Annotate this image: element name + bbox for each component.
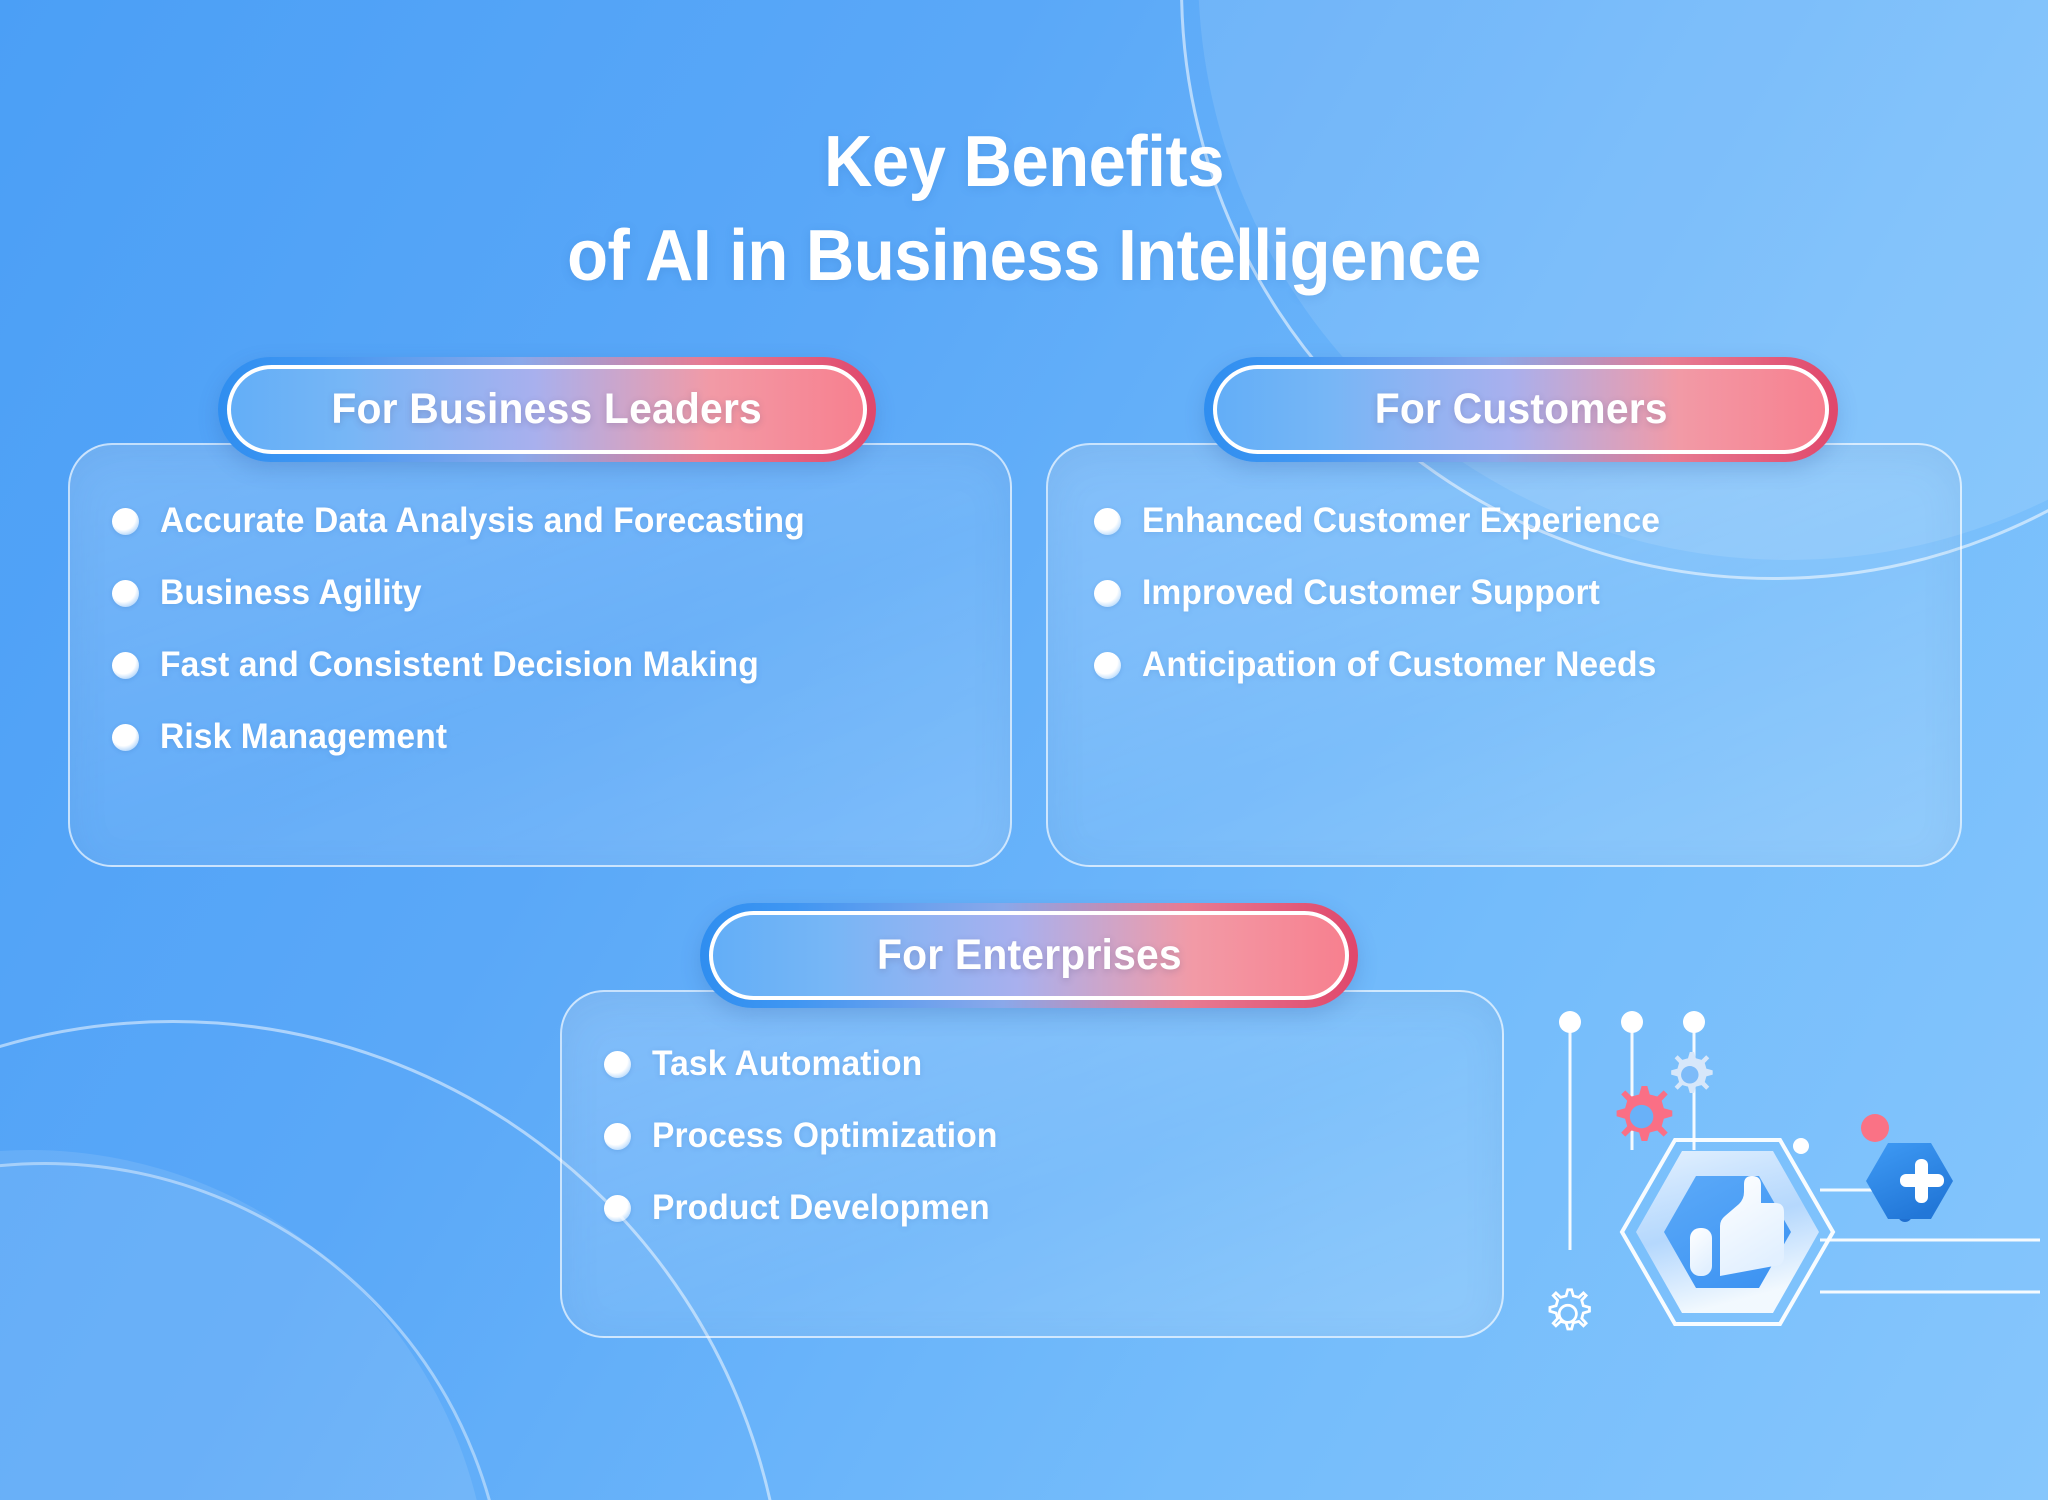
bullet-dot-icon [112, 580, 139, 607]
list-item: Process Optimization [562, 1116, 1502, 1156]
badge-for-enterprises: For Enterprises [700, 903, 1358, 1008]
list-item: Anticipation of Customer Needs [1048, 645, 1960, 685]
list-item: Product Developmen [562, 1188, 1502, 1228]
list-item-label: Accurate Data Analysis and Forecasting [160, 501, 805, 541]
card-business-leaders: Accurate Data Analysis and Forecasting B… [68, 443, 1012, 867]
infographic-canvas: Key Benefits of AI in Business Intellige… [0, 0, 2048, 1500]
thumbs-up-hexagon-icon [1622, 1140, 1833, 1324]
bullet-dot-icon [112, 508, 139, 535]
circle-bottom-left-fill [0, 1150, 490, 1500]
list-item-label: Product Developmen [652, 1188, 990, 1228]
dot-pink-icon [1861, 1114, 1889, 1142]
list-item-label: Anticipation of Customer Needs [1142, 645, 1656, 685]
bullet-dot-icon [1094, 508, 1121, 535]
gear-white-icon [1671, 1052, 1712, 1093]
page-title: Key Benefits of AI in Business Intellige… [72, 126, 1977, 292]
plus-hexagon-icon [1866, 1143, 1953, 1219]
bullet-dot-icon [1094, 652, 1121, 679]
bullet-dot-icon [1094, 580, 1121, 607]
list-item: Risk Management [70, 717, 1010, 757]
badge-for-business-leaders: For Business Leaders [218, 357, 876, 462]
gear-outline-icon [1550, 1290, 1590, 1329]
list-item-label: Risk Management [160, 717, 447, 757]
decorative-icon-cluster [1520, 1000, 2040, 1400]
card-enterprises: Task Automation Process Optimization Pro… [560, 990, 1504, 1338]
benefit-list-business-leaders: Accurate Data Analysis and Forecasting B… [70, 445, 1010, 757]
list-item-label: Improved Customer Support [1142, 573, 1600, 613]
bullet-dot-icon [112, 652, 139, 679]
list-item-label: Business Agility [160, 573, 422, 613]
list-item: Fast and Consistent Decision Making [70, 645, 1010, 685]
page-title-line-1: Key Benefits [824, 122, 1224, 202]
bullet-dot-icon [112, 724, 139, 751]
circle-bottom-left-inner-ring [0, 1162, 508, 1500]
bullet-dot-icon [604, 1123, 631, 1150]
list-item-label: Process Optimization [652, 1116, 997, 1156]
list-item-label: Task Automation [652, 1044, 922, 1084]
list-item: Improved Customer Support [1048, 573, 1960, 613]
list-item-label: Enhanced Customer Experience [1142, 501, 1660, 541]
badge-label: For Customers [1374, 385, 1667, 434]
list-item: Business Agility [70, 573, 1010, 613]
list-item: Accurate Data Analysis and Forecasting [70, 501, 1010, 541]
benefit-list-customers: Enhanced Customer Experience Improved Cu… [1048, 445, 1960, 685]
list-item-label: Fast and Consistent Decision Making [160, 645, 759, 685]
benefit-list-enterprises: Task Automation Process Optimization Pro… [562, 992, 1502, 1228]
badge-for-customers: For Customers [1204, 357, 1838, 462]
list-item: Enhanced Customer Experience [1048, 501, 1960, 541]
card-customers: Enhanced Customer Experience Improved Cu… [1046, 443, 1962, 867]
badge-label: For Business Leaders [332, 385, 763, 434]
gear-pink-icon [1617, 1086, 1673, 1141]
bullet-dot-icon [604, 1051, 631, 1078]
badge-label: For Enterprises [877, 931, 1182, 980]
list-item: Task Automation [562, 1044, 1502, 1084]
page-title-line-2: of AI in Business Intelligence [72, 220, 1977, 292]
bullet-dot-icon [604, 1195, 631, 1222]
